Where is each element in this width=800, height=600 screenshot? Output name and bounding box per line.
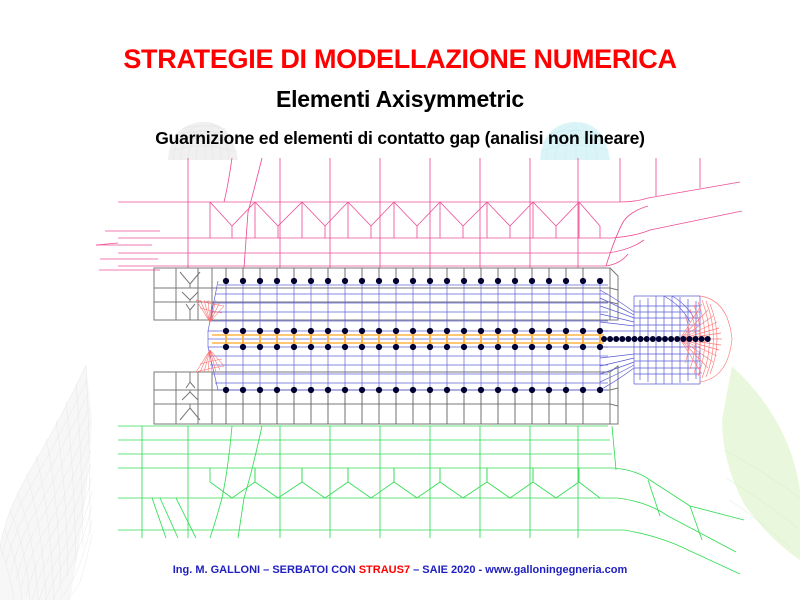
contact-node-dot: [461, 387, 467, 393]
contact-node-dot: [427, 278, 433, 284]
bolt-axis-node-dot: [632, 336, 638, 342]
contact-node-dot: [240, 344, 246, 350]
bolt-axis-node-dot: [613, 336, 619, 342]
contact-node-dot: [223, 344, 229, 350]
contact-node-dot: [325, 328, 331, 334]
bolt-axis-node-dot: [650, 336, 656, 342]
flange-body-lower: [154, 366, 618, 424]
contact-node-dot: [291, 344, 297, 350]
contact-node-dot: [580, 344, 586, 350]
contact-node-dot: [563, 278, 569, 284]
contact-node-dot: [478, 328, 484, 334]
watermark-gray-curved-mesh-left: [0, 364, 92, 600]
contact-node-dot: [461, 344, 467, 350]
contact-node-dot: [325, 344, 331, 350]
contact-node-dot: [342, 328, 348, 334]
contact-node-dot: [376, 328, 382, 334]
contact-node-dot: [512, 387, 518, 393]
contact-node-dot: [580, 387, 586, 393]
left-taper-fan-detail: [196, 300, 224, 372]
bolt-axis-node-dot: [668, 336, 674, 342]
contact-node-dot: [580, 328, 586, 334]
contact-node-dot: [325, 278, 331, 284]
contact-node-dot: [461, 328, 467, 334]
contact-node-dot: [410, 328, 416, 334]
contact-node-dot: [274, 278, 280, 284]
upper-shell-mesh: [96, 158, 742, 270]
bolt-axis-node-dot: [699, 336, 705, 342]
bolt-axis-node-dot: [601, 336, 607, 342]
contact-node-dot: [529, 387, 535, 393]
contact-node-dot: [512, 278, 518, 284]
contact-node-dot: [223, 328, 229, 334]
contact-node-dot: [325, 387, 331, 393]
contact-node-dot: [410, 387, 416, 393]
contact-node-dot: [597, 344, 603, 350]
bolt-axis-node-dot: [705, 336, 711, 342]
contact-node-dot: [257, 278, 263, 284]
contact-node-dot: [393, 328, 399, 334]
contact-node-dot: [308, 328, 314, 334]
contact-node-dot: [427, 328, 433, 334]
contact-node-dot: [546, 344, 552, 350]
bolt-axis-node-dot: [607, 336, 613, 342]
contact-node-dot: [274, 328, 280, 334]
contact-node-dot: [223, 278, 229, 284]
bolt-axis-node-dot: [644, 336, 650, 342]
contact-node-dot: [563, 328, 569, 334]
contact-node-dot: [291, 328, 297, 334]
contact-node-dot: [240, 278, 246, 284]
contact-node-dot: [563, 387, 569, 393]
contact-node-dot: [427, 344, 433, 350]
contact-node-dot: [495, 387, 501, 393]
contact-node-dot: [257, 387, 263, 393]
bolt-axis-node-dot: [625, 336, 631, 342]
contact-node-dot: [563, 344, 569, 350]
contact-node-dot: [410, 344, 416, 350]
contact-node-dot: [393, 387, 399, 393]
contact-node-dot: [410, 278, 416, 284]
bolt-axis-node-dot: [638, 336, 644, 342]
contact-node-dot: [478, 344, 484, 350]
contact-node-dot: [223, 387, 229, 393]
bolt-axis-node-dot: [674, 336, 680, 342]
contact-node-dot: [308, 344, 314, 350]
bolt-axis-node-dot: [680, 336, 686, 342]
contact-node-dot: [512, 328, 518, 334]
contact-node-dot: [308, 278, 314, 284]
contact-node-dot: [359, 344, 365, 350]
contact-node-dot: [478, 387, 484, 393]
contact-node-dot: [240, 387, 246, 393]
fem-mesh-figure: [0, 0, 800, 600]
page-title-third: Guarnizione ed elementi di contatto gap …: [0, 128, 800, 149]
contact-node-dot: [291, 278, 297, 284]
watermark-green-curved-shape-right: [722, 366, 800, 560]
contact-node-dot: [444, 278, 450, 284]
contact-node-dot: [291, 387, 297, 393]
bolt-axis-node-dot: [619, 336, 625, 342]
contact-node-dot: [308, 387, 314, 393]
bolt-axis-node-dot: [693, 336, 699, 342]
contact-node-dot: [580, 278, 586, 284]
contact-node-dot: [444, 344, 450, 350]
contact-node-dot: [546, 387, 552, 393]
contact-node-dot: [495, 328, 501, 334]
contact-node-dot: [597, 328, 603, 334]
contact-node-dot: [512, 344, 518, 350]
contact-node-dot: [546, 328, 552, 334]
contact-node-dot: [359, 387, 365, 393]
contact-node-dot: [342, 344, 348, 350]
contact-node-dot: [597, 387, 603, 393]
lower-shell-mesh: [118, 426, 744, 574]
contact-node-dot: [495, 278, 501, 284]
contact-node-dot: [359, 278, 365, 284]
contact-node-dot: [274, 387, 280, 393]
contact-node-dot: [444, 387, 450, 393]
contact-node-dot: [529, 344, 535, 350]
contact-node-dot: [359, 328, 365, 334]
contact-node-dot: [274, 344, 280, 350]
contact-node-dot: [376, 344, 382, 350]
contact-node-dot: [478, 278, 484, 284]
contact-node-dot: [342, 278, 348, 284]
contact-node-dot: [257, 328, 263, 334]
contact-node-dot: [495, 344, 501, 350]
contact-node-dot: [240, 328, 246, 334]
contact-node-dot: [444, 328, 450, 334]
contact-node-dot: [393, 344, 399, 350]
contact-node-dot: [546, 278, 552, 284]
contact-node-dot: [393, 278, 399, 284]
bolt-axis-node-dot: [662, 336, 668, 342]
contact-node-dot: [597, 278, 603, 284]
contact-node-dot: [376, 387, 382, 393]
bolt-axis-node-dot: [656, 336, 662, 342]
contact-node-dot: [529, 328, 535, 334]
contact-node-dot: [427, 387, 433, 393]
contact-node-dot: [461, 278, 467, 284]
contact-node-dot: [342, 387, 348, 393]
slide-canvas: STRATEGIE DI MODELLAZIONE NUMERICA Eleme…: [0, 0, 800, 600]
contact-node-dot: [529, 278, 535, 284]
contact-node-dot: [257, 344, 263, 350]
contact-node-dot: [376, 278, 382, 284]
bolt-axis-node-dot: [686, 336, 692, 342]
